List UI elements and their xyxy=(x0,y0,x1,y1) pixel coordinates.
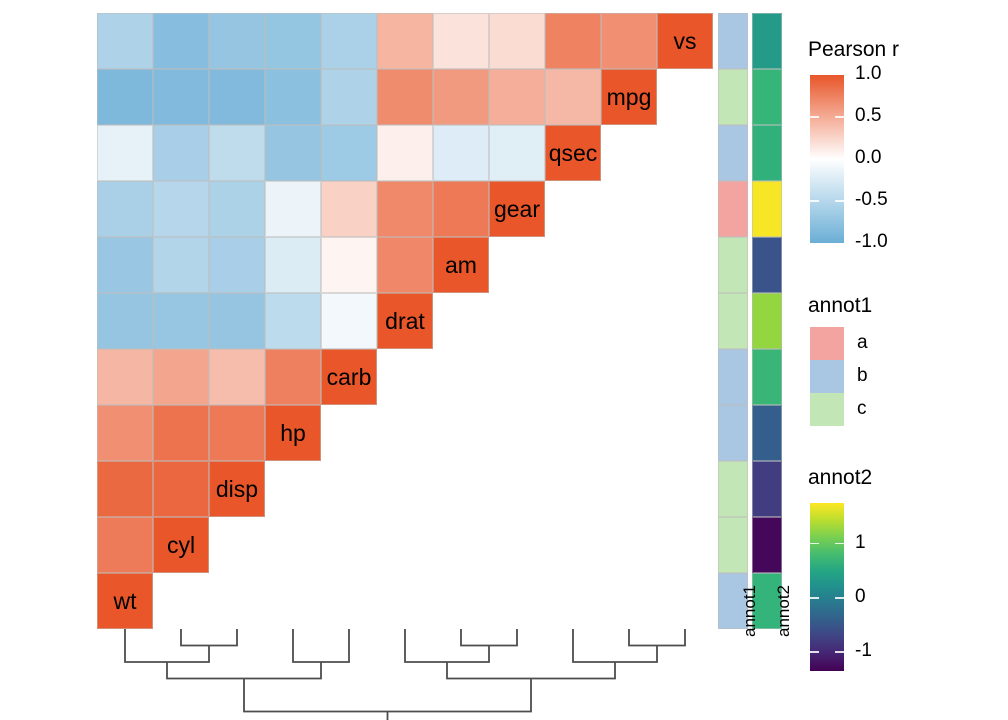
annot2-cell xyxy=(752,517,782,573)
annot2-cell xyxy=(752,461,782,517)
legend-label-annot1-a: a xyxy=(857,332,868,354)
annot1-cell xyxy=(718,349,748,405)
annot1-cell xyxy=(718,181,748,237)
colorbar-tick-label-pearson: -1.0 xyxy=(855,231,888,253)
legend-title-annot1: annot1 xyxy=(808,294,872,318)
dendrogram-link xyxy=(293,629,349,662)
colorbar-tick-mark xyxy=(810,116,819,118)
annot2-cell xyxy=(752,349,782,405)
dendrogram-link xyxy=(629,629,685,646)
colorbar-tick-mark xyxy=(835,116,844,118)
legend-swatch-annot1-b xyxy=(810,360,844,393)
colorbar-tick-label-annot2: -1 xyxy=(855,640,872,662)
colorbar-tick-mark xyxy=(835,651,844,653)
legend-label-annot1-c: c xyxy=(857,398,867,420)
dendrogram-link xyxy=(244,679,531,712)
annot1-cell xyxy=(718,69,748,125)
colorbar-tick-mark xyxy=(835,200,844,202)
annot2-cell xyxy=(752,13,782,69)
annot1-cell xyxy=(718,237,748,293)
annot1-cell xyxy=(718,293,748,349)
legend-title-annot2: annot2 xyxy=(808,466,872,490)
legend-label-annot1-b: b xyxy=(857,365,868,387)
legend-title-pearson-r: Pearson r xyxy=(808,38,899,62)
annot2-cell xyxy=(752,405,782,461)
colorbar-tick-label-annot2: 1 xyxy=(855,532,866,554)
colorbar-tick-label-annot2: 0 xyxy=(855,586,866,608)
annotation-track-label-annot1: annot1 xyxy=(740,585,760,637)
colorbar-annot2 xyxy=(810,503,844,671)
dendrogram-link xyxy=(181,629,237,646)
colorbar-tick-label-pearson: 0.5 xyxy=(855,105,881,127)
annot1-cell xyxy=(718,405,748,461)
colorbar-tick-mark xyxy=(810,543,819,545)
dendrogram-link xyxy=(461,629,517,646)
colorbar-tick-label-pearson: 0.0 xyxy=(855,147,881,169)
colorbar-tick-mark xyxy=(835,597,844,599)
annot1-cell xyxy=(718,517,748,573)
annotation-track-label-annot2: annot2 xyxy=(774,585,794,637)
correlation-heatmap-figure: vsmpgqsecgearamdratcarbhpdispcylwt annot… xyxy=(0,0,1008,720)
annot2-cell xyxy=(752,125,782,181)
colorbar-tick-mark xyxy=(810,597,819,599)
colorbar-tick-mark xyxy=(810,200,819,202)
colorbar-tick-label-pearson: 1.0 xyxy=(855,63,881,85)
annot2-cell xyxy=(752,181,782,237)
annot1-cell xyxy=(718,125,748,181)
annot1-cell xyxy=(718,461,748,517)
colorbar-tick-mark xyxy=(810,651,819,653)
colorbar-tick-mark xyxy=(835,543,844,545)
dendrogram-link xyxy=(447,662,615,679)
colorbar-tick-mark xyxy=(810,158,819,160)
annot2-cell xyxy=(752,69,782,125)
colorbar-tick-label-pearson: -0.5 xyxy=(855,189,888,211)
annot1-cell xyxy=(718,13,748,69)
colorbar-tick-mark xyxy=(835,158,844,160)
legend-swatch-annot1-a xyxy=(810,327,844,360)
annot2-cell xyxy=(752,237,782,293)
dendrogram-link xyxy=(167,662,321,679)
annot2-cell xyxy=(752,293,782,349)
legend-swatch-annot1-c xyxy=(810,393,844,426)
